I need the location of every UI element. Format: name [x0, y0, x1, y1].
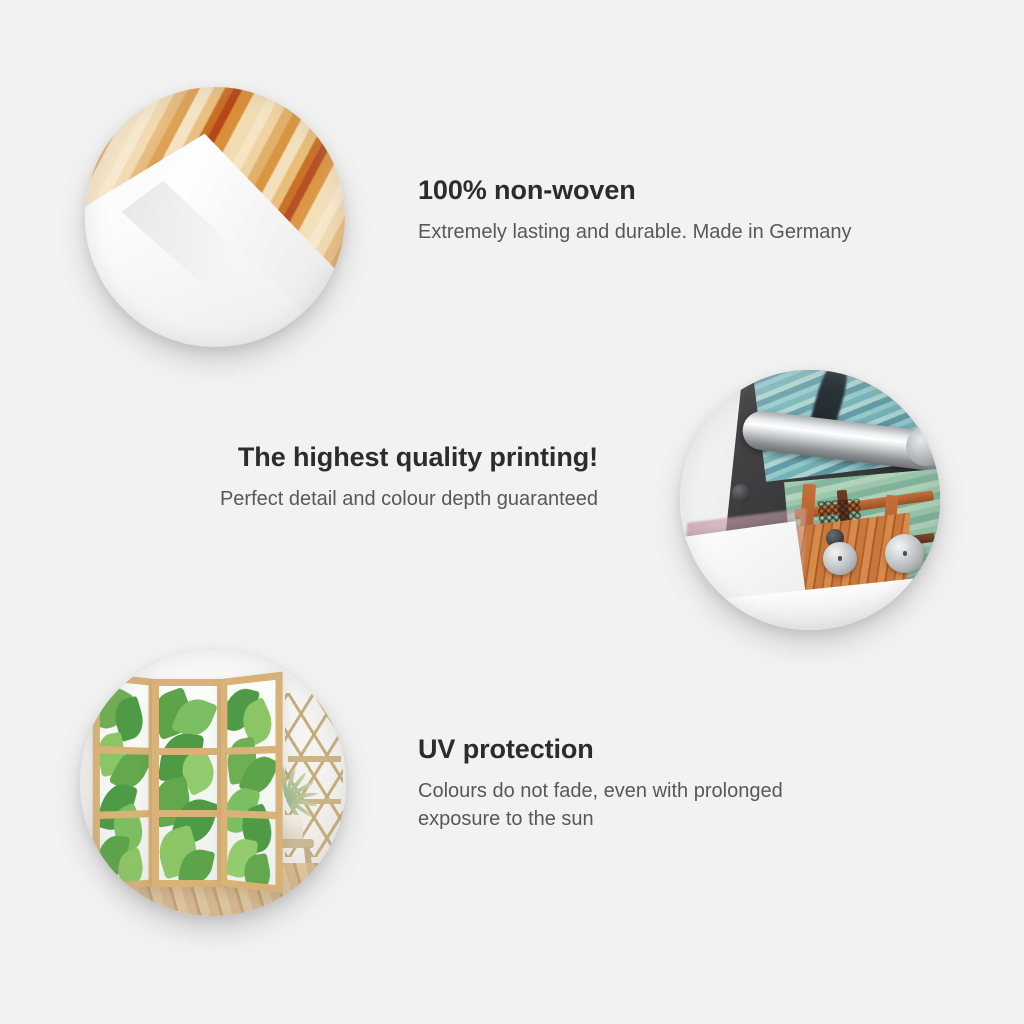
feature-image-printing	[680, 370, 940, 630]
leaf-pattern	[227, 680, 275, 886]
peeling-wallpaper-photo	[85, 87, 345, 347]
panel-mullion	[159, 748, 217, 755]
leaf-pattern	[100, 681, 149, 886]
feature-body-non-woven: Extremely lasting and durable. Made in G…	[418, 218, 858, 246]
tropical-room-divider-photo	[80, 650, 346, 916]
printer-knob-left	[732, 484, 750, 502]
lattice-shelf-board-1	[288, 756, 341, 761]
infographic-canvas: 100% non-woven Extremely lasting and dur…	[0, 0, 1024, 1024]
wheel-hub	[838, 556, 842, 560]
feature-text-printing: The highest quality printing! Perfect de…	[178, 443, 598, 513]
leaf-pattern	[159, 686, 217, 879]
feature-heading-uv-protection: UV protection	[418, 735, 818, 765]
feature-text-uv-protection: UV protection Colours do not fade, even …	[418, 735, 818, 833]
feature-body-uv-protection: Colours do not fade, even with prolonged…	[418, 777, 818, 834]
large-format-printer-photo	[680, 370, 940, 630]
divider-panel-center	[152, 679, 224, 886]
feature-text-non-woven: 100% non-woven Extremely lasting and dur…	[418, 176, 858, 246]
feature-heading-printing: The highest quality printing!	[178, 443, 598, 473]
feature-body-printing: Perfect detail and colour depth guarante…	[178, 485, 598, 513]
panel-mullion	[159, 810, 217, 817]
printer-wheel-right	[885, 534, 924, 573]
printer-wheel-left	[823, 542, 857, 576]
wheel-hub	[903, 551, 908, 556]
divider-panel-right	[221, 672, 282, 894]
feature-heading-non-woven: 100% non-woven	[418, 176, 858, 206]
feature-image-non-woven	[85, 87, 345, 347]
plant-pot	[282, 815, 303, 842]
feature-image-uv-protection	[80, 650, 346, 916]
divider-panel-left	[92, 672, 154, 893]
